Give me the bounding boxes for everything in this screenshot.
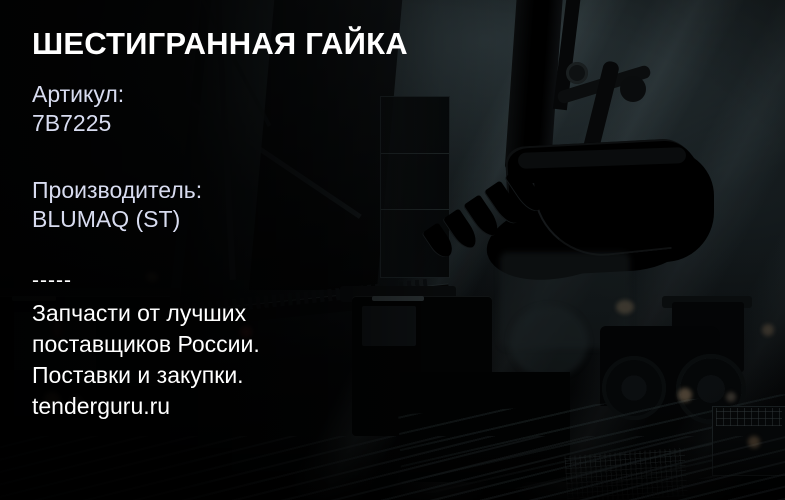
promo-website-url: tenderguru.ru [32,391,502,422]
boom-pivot-pin-c [641,152,671,182]
bokeh-light [762,324,774,336]
excavator-bucket-back [630,150,714,262]
boom-pivot-pin-b [620,76,646,102]
field-manufacturer: Производитель: BLUMAQ (ST) [32,176,502,234]
tractor-canopy [662,296,752,308]
promo-line-2: поставщиков России. [32,329,502,360]
field-article-label: Артикул: [32,80,502,109]
promo-block: Запчасти от лучших поставщиков России. П… [32,298,502,422]
bokeh-light [616,300,634,314]
boom-pivot-pin-a [566,62,588,84]
bokeh-light [726,392,736,402]
promo-line-1: Запчасти от лучших [32,298,502,329]
excavator-boom-side [553,0,585,110]
excavator-linkage-arm [556,64,652,104]
product-title: ШЕСТИГРАННАЯ ГАЙКА [32,26,502,62]
floor-texture [0,436,785,500]
field-manufacturer-value: BLUMAQ (ST) [32,205,502,234]
divider-dashes: ----- [32,272,502,290]
mesh-grating [564,448,687,500]
bokeh-light [678,388,692,402]
product-banner: ШЕСТИГРАННАЯ ГАЙКА Артикул: 7B7225 Произ… [0,0,785,500]
promo-line-3: Поставки и закупки. [32,360,502,391]
crate-container [712,406,785,476]
promo-spacer [32,250,502,272]
bucket-tooth [504,166,546,215]
tractor-rear-wheel [676,354,746,424]
field-article: Артикул: 7B7225 [32,80,502,138]
excavator-bucket-lip [478,181,644,297]
excavator-bucket [505,137,712,277]
field-manufacturer-label: Производитель: [32,176,502,205]
crate-grid-top [716,408,782,426]
field-spacer [32,154,502,176]
boom-pivot-pin-d [600,164,624,188]
bucket-edge-highlight [532,169,672,262]
excavator-boom [505,0,566,171]
tractor-body [600,326,720,406]
background-loader-wheel [510,306,588,378]
tractor-front-wheel [602,356,666,420]
banner-content: ШЕСТИГРАННАЯ ГАЙКА Артикул: 7B7225 Произ… [32,26,502,422]
excavator-linkage-rod [576,60,621,180]
background-loader-blurred [500,252,630,348]
field-article-value: 7B7225 [32,109,502,138]
tractor-cab [672,302,744,372]
excavator-bucket-rim [518,147,686,169]
bokeh-light [748,436,760,448]
